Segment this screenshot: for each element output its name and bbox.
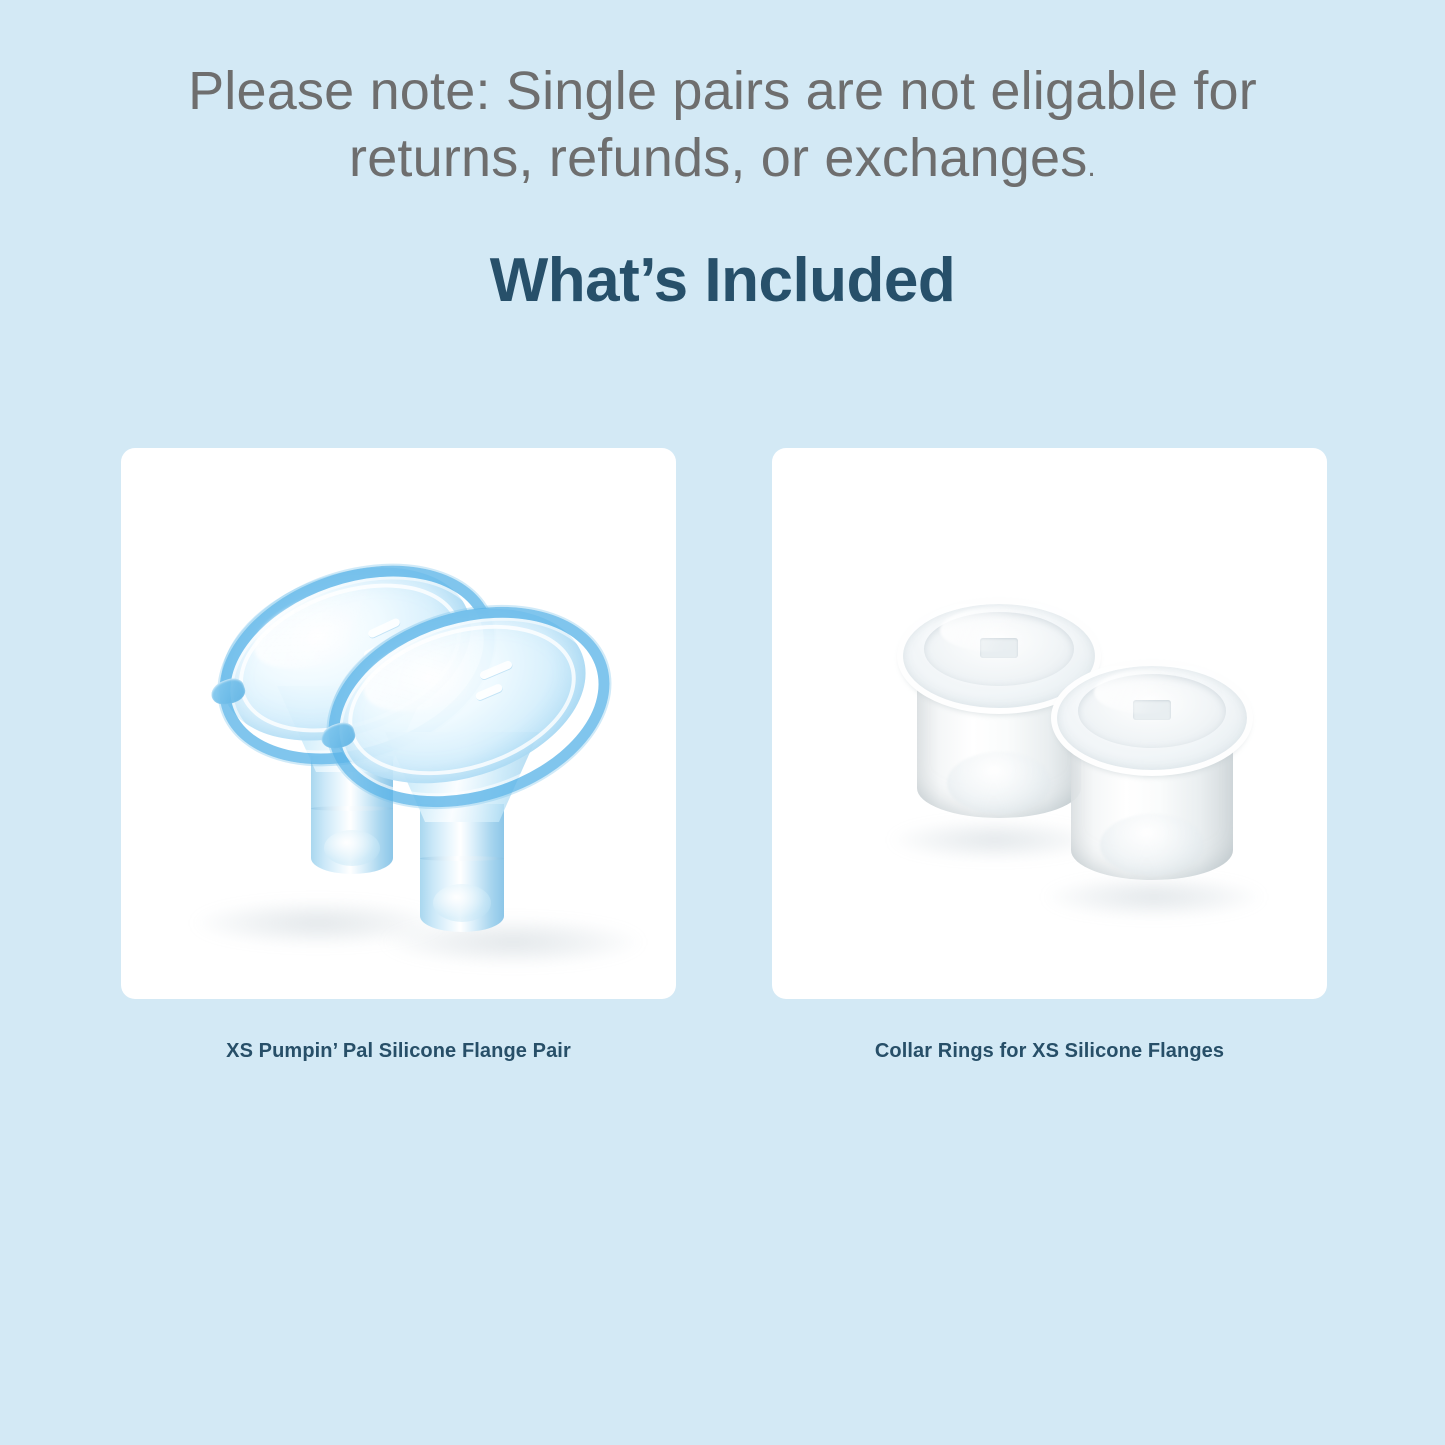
flange-right-stem-bulb	[433, 884, 491, 922]
flange-pair-caption: XS Pumpin’ Pal Silicone Flange Pair	[226, 1038, 571, 1064]
note-line-1: Please note: Single pairs are not eligab…	[70, 58, 1375, 125]
collar-rings-caption: Collar Rings for XS Silicone Flanges	[875, 1038, 1224, 1064]
note-line-2: returns, refunds, or exchanges	[349, 128, 1087, 188]
collar-ring-right	[1054, 656, 1250, 906]
included-items-grid: XS Pumpin’ Pal Silicone Flange Pair	[121, 448, 1327, 1064]
flange-pair-image-card	[121, 448, 676, 999]
collar-rings-photo	[772, 448, 1327, 999]
collar-ring-left-highlight	[940, 608, 1048, 652]
collar-ring-right-highlight	[1094, 670, 1200, 714]
included-item-collar-rings: Collar Rings for XS Silicone Flanges	[772, 448, 1327, 1064]
collar-rings-image-card	[772, 448, 1327, 999]
page-title: What’s Included	[0, 245, 1445, 316]
xs-silicone-flange-pair-photo	[121, 448, 676, 999]
flange-right-stem-ring	[420, 856, 504, 861]
included-item-flange-pair: XS Pumpin’ Pal Silicone Flange Pair	[121, 448, 676, 1064]
collar-ring-left-inner-cup	[947, 752, 1051, 814]
flange-right	[327, 608, 597, 968]
collar-ring-right-inner-cup	[1100, 814, 1204, 876]
note-period: .	[1087, 150, 1096, 183]
returns-policy-note: Please note: Single pairs are not eligab…	[0, 58, 1445, 200]
note-line-2-wrap: returns, refunds, or exchanges.	[70, 125, 1375, 200]
